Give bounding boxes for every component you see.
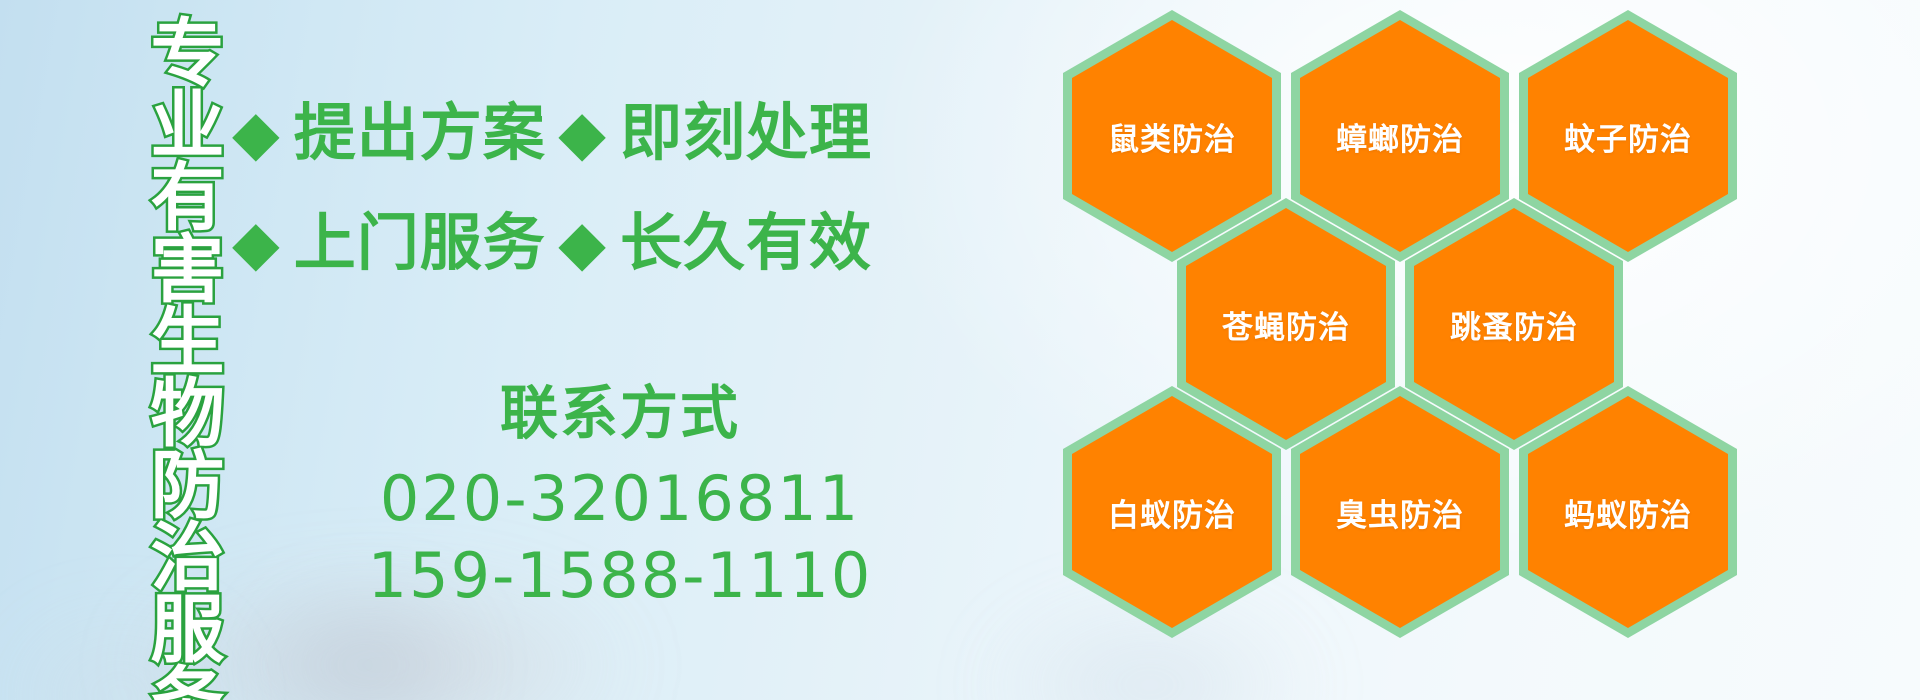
feature-item: ◆ 上门服务 [232, 212, 546, 274]
diamond-bullet-icon: ◆ [558, 212, 606, 274]
pest-control-banner: 专业有害生物防治服务 ◆ 提出方案 ◆ 即刻处理 ◆ 上门服务 ◆ 长久有效 [0, 0, 1920, 700]
contact-title: 联系方式 [300, 382, 940, 446]
service-honeycomb: 鼠类防治 蟑螂防治 蚊子防治 苍蝇防治 跳蚤防治 白蚁防治 臭虫防治 [1063, 0, 1863, 700]
feature-label: 提出方案 [294, 102, 546, 164]
feature-item: ◆ 长久有效 [558, 212, 872, 274]
service-label: 蟑螂防治 [1336, 114, 1464, 159]
feature-label: 长久有效 [620, 212, 872, 274]
diamond-bullet-icon: ◆ [558, 102, 606, 164]
feature-list: ◆ 提出方案 ◆ 即刻处理 ◆ 上门服务 ◆ 长久有效 [232, 78, 872, 298]
feature-label: 上门服务 [294, 212, 546, 274]
phone-mobile[interactable]: 159-1588-1110 [300, 537, 940, 615]
service-label: 蚂蚁防治 [1564, 490, 1692, 535]
feature-item: ◆ 即刻处理 [558, 102, 872, 164]
service-label: 臭虫防治 [1336, 490, 1464, 535]
contact-block: 联系方式 020-32016811 159-1588-1110 [300, 382, 940, 615]
service-label: 苍蝇防治 [1222, 302, 1350, 347]
vertical-headline: 专业有害生物防治服务 [108, 14, 218, 700]
diamond-bullet-icon: ◆ [232, 102, 280, 164]
service-label: 鼠类防治 [1108, 114, 1236, 159]
feature-label: 即刻处理 [620, 102, 872, 164]
service-label: 蚊子防治 [1564, 114, 1692, 159]
service-label: 跳蚤防治 [1450, 302, 1578, 347]
feature-row: ◆ 提出方案 ◆ 即刻处理 [232, 78, 872, 188]
phone-landline[interactable]: 020-32016811 [300, 460, 940, 538]
service-label: 白蚁防治 [1108, 490, 1236, 535]
feature-item: ◆ 提出方案 [232, 102, 546, 164]
diamond-bullet-icon: ◆ [232, 212, 280, 274]
feature-row: ◆ 上门服务 ◆ 长久有效 [232, 188, 872, 298]
